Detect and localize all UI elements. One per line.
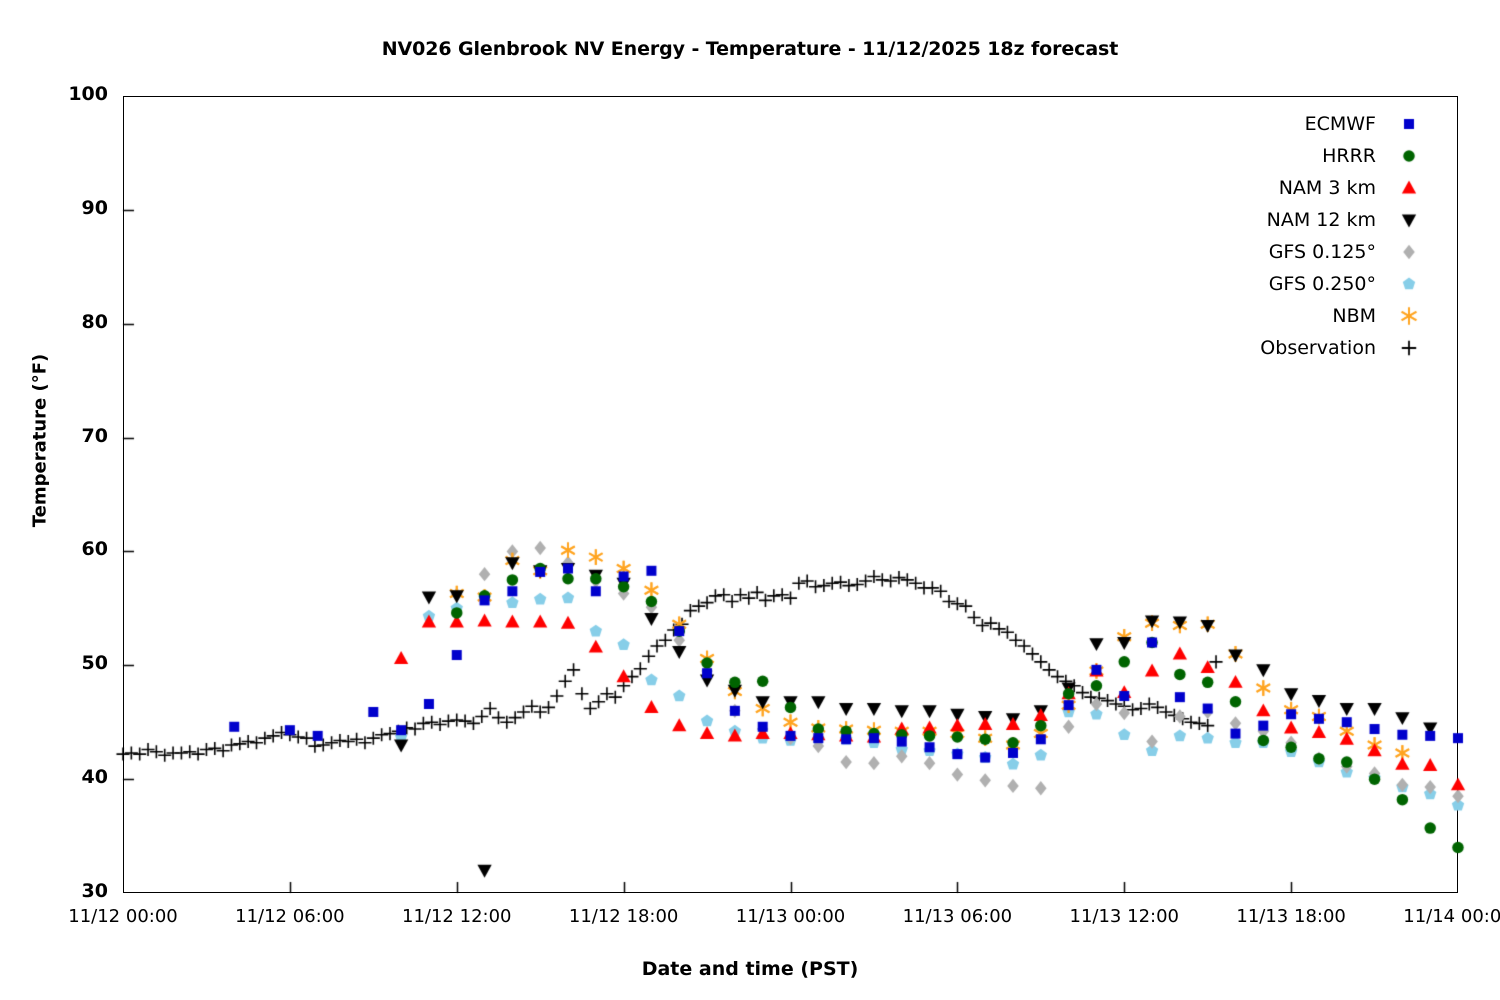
pentagon-marker-icon	[1398, 273, 1420, 295]
legend-label: NAM 3 km	[1279, 177, 1398, 199]
legend-item-hrrr[interactable]: HRRR	[1175, 140, 1420, 172]
y-tick-label: 30	[38, 880, 108, 902]
x-tick-label: 11/12 00:00	[33, 906, 213, 927]
asterisk-marker-icon	[1398, 305, 1420, 327]
legend-label: NAM 12 km	[1267, 209, 1398, 231]
circle-marker-icon	[1398, 145, 1420, 167]
plus-marker-icon	[1398, 337, 1420, 359]
diamond-marker-icon	[1398, 241, 1420, 263]
y-axis-label: Temperature (°F)	[30, 331, 51, 551]
legend-label: ECMWF	[1305, 113, 1398, 135]
legend-label: GFS 0.250°	[1269, 273, 1398, 295]
legend-label: GFS 0.125°	[1269, 241, 1398, 263]
y-tick-label: 80	[38, 311, 108, 333]
triangle-down-marker-icon	[1398, 209, 1420, 231]
chart-page: NV026 Glenbrook NV Energy - Temperature …	[0, 0, 1500, 1000]
x-tick-label: 11/13 00:00	[701, 906, 881, 927]
legend: ECMWFHRRRNAM 3 kmNAM 12 kmGFS 0.125°GFS …	[1175, 108, 1420, 364]
x-tick-label: 11/12 12:00	[367, 906, 547, 927]
legend-item-ecmwf[interactable]: ECMWF	[1175, 108, 1420, 140]
x-tick-label: 11/13 18:00	[1201, 906, 1381, 927]
triangle-up-marker-icon	[1398, 177, 1420, 199]
y-tick-label: 40	[38, 766, 108, 788]
square-marker-icon	[1398, 113, 1420, 135]
legend-label: NBM	[1332, 305, 1398, 327]
y-tick-label: 50	[38, 652, 108, 674]
legend-item-observation[interactable]: Observation	[1175, 332, 1420, 364]
legend-item-gfs-0-250[interactable]: GFS 0.250°	[1175, 268, 1420, 300]
x-tick-label: 11/13 06:00	[867, 906, 1047, 927]
x-tick-label: 11/13 12:00	[1034, 906, 1214, 927]
legend-item-nam-3-km[interactable]: NAM 3 km	[1175, 172, 1420, 204]
legend-label: Observation	[1260, 337, 1398, 359]
legend-item-gfs-0-125[interactable]: GFS 0.125°	[1175, 236, 1420, 268]
x-tick-label: 11/12 18:00	[534, 906, 714, 927]
x-tick-label: 11/14 00:00	[1368, 906, 1500, 927]
x-axis-label: Date and time (PST)	[0, 958, 1500, 980]
y-tick-label: 90	[38, 197, 108, 219]
legend-label: HRRR	[1322, 145, 1398, 167]
page-title: NV026 Glenbrook NV Energy - Temperature …	[0, 38, 1500, 60]
x-tick-label: 11/12 06:00	[200, 906, 380, 927]
legend-item-nam-12-km[interactable]: NAM 12 km	[1175, 204, 1420, 236]
y-tick-label: 100	[38, 83, 108, 105]
legend-item-nbm[interactable]: NBM	[1175, 300, 1420, 332]
